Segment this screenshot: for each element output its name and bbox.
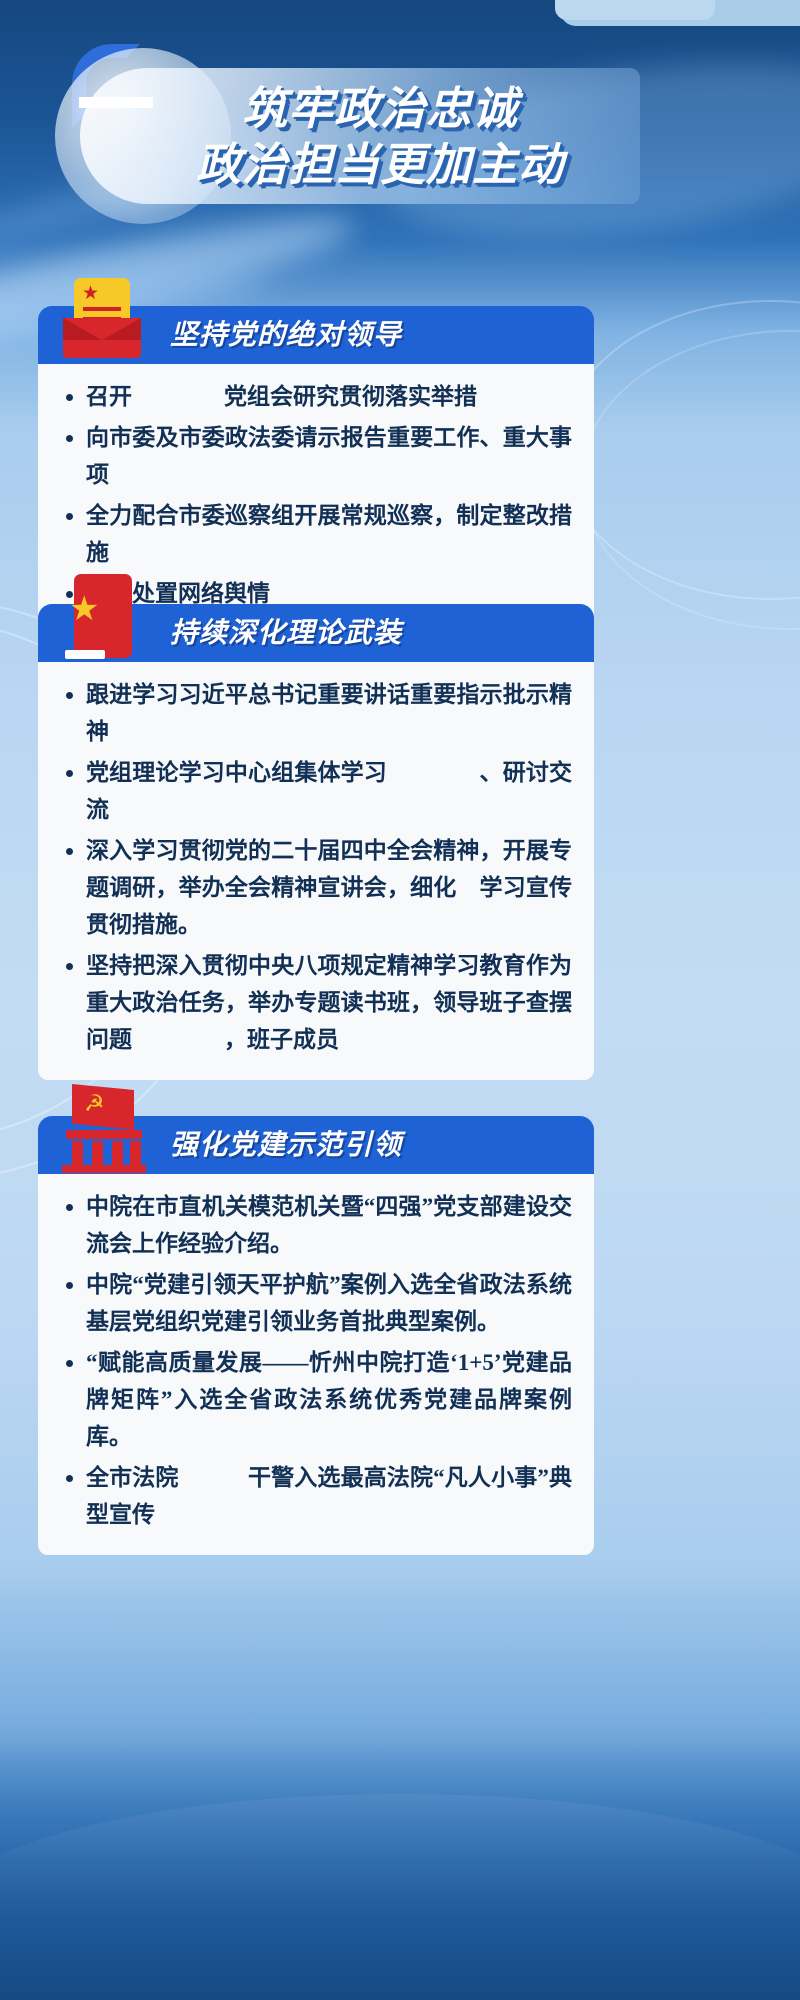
- card-3-header: ☭ 强化党建示范引领: [38, 1116, 594, 1174]
- card-1-header: ★ 坚持党的绝对领导: [38, 306, 594, 364]
- poster-root: 筑牢政治忠诚 政治担当更加主动 ★ 坚持党的绝对领导 召开 党组会研究贯彻落实举…: [0, 0, 800, 2000]
- arc-line-decoration: [580, 330, 800, 630]
- list-item: 中院“党建引领天平护航”案例入选全省政法系统基层党组织党建引领业务首批典型案例。: [60, 1266, 572, 1340]
- card-2-header: ★ 持续深化理论武装: [38, 604, 594, 662]
- page-title-line-2: 政治担当更加主动: [120, 138, 640, 192]
- list-item: “赋能高质量发展——忻州中院打造‘1+5’党建品牌矩阵”入选全省政法系统优秀党建…: [60, 1344, 572, 1455]
- card-2-bullet-list: 跟进学习习近平总书记重要讲话重要指示批示精神 党组理论学习中心组集体学习 、研讨…: [60, 676, 572, 1058]
- hammer-sickle-flag-icon: ☭: [56, 1086, 152, 1182]
- card-3-body: 中院在市直机关模范机关暨“四强”党支部建设交流会上作经验介绍。 中院“党建引领天…: [38, 1174, 594, 1555]
- card-1-title: 坚持党的绝对领导: [170, 317, 402, 353]
- list-item: 跟进学习习近平总书记重要讲话重要指示批示精神: [60, 676, 572, 750]
- card-3-title: 强化党建示范引领: [170, 1127, 402, 1163]
- red-book-star-icon: ★: [56, 574, 152, 670]
- top-right-pill-decoration-secondary: [555, 0, 715, 20]
- list-item: 中院在市直机关模范机关暨“四强”党支部建设交流会上作经验介绍。: [60, 1188, 572, 1262]
- card-section-3: ☭ 强化党建示范引领 中院在市直机关模范机关暨“四强”党支部建设交流会上作经验介…: [38, 1116, 594, 1555]
- list-item: 全市法院 干警入选最高法院“凡人小事”典型宣传: [60, 1459, 572, 1533]
- card-2-title: 持续深化理论武装: [170, 615, 402, 651]
- page-title: 筑牢政治忠诚 政治担当更加主动: [120, 82, 640, 192]
- list-item: 坚持把深入贯彻中央八项规定精神学习教育作为重大政治任务，举办专题读书班，领导班子…: [60, 947, 572, 1058]
- list-item: 向市委及市委政法委请示报告重要工作、重大事项: [60, 419, 572, 493]
- card-2-body: 跟进学习习近平总书记重要讲话重要指示批示精神 党组理论学习中心组集体学习 、研讨…: [38, 662, 594, 1080]
- list-item: 全力配合市委巡察组开展常规巡察，制定整改措施: [60, 497, 572, 571]
- arc-line-decoration: [560, 300, 800, 600]
- list-item: 召开 党组会研究贯彻落实举措: [60, 378, 572, 415]
- page-title-line-1: 筑牢政治忠诚: [120, 82, 640, 136]
- card-section-2: ★ 持续深化理论武装 跟进学习习近平总书记重要讲话重要指示批示精神 党组理论学习…: [38, 604, 594, 1080]
- bottom-gradient-decoration: [0, 1740, 800, 2000]
- list-item: 深入学习贯彻党的二十届四中全会精神，开展专题调研，举办全会精神宣讲会，细化 学习…: [60, 832, 572, 943]
- card-3-bullet-list: 中院在市直机关模范机关暨“四强”党支部建设交流会上作经验介绍。 中院“党建引领天…: [60, 1188, 572, 1533]
- list-item: 党组理论学习中心组集体学习 、研讨交流: [60, 754, 572, 828]
- document-red-envelope-icon: ★: [56, 276, 152, 372]
